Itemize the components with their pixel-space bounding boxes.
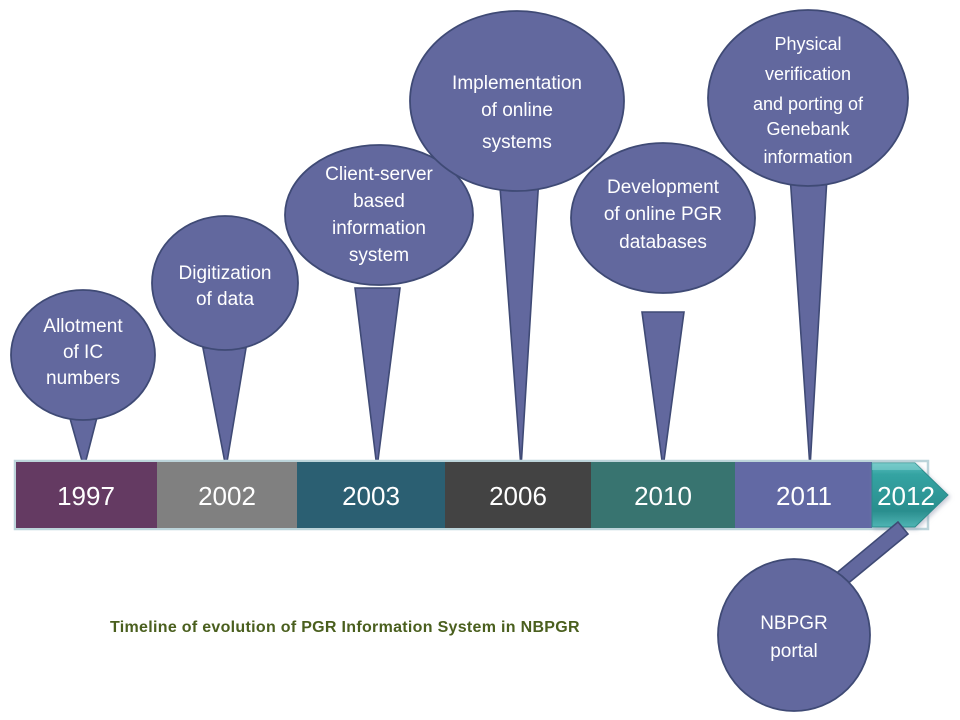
callout-2011-line-2: verification [765,64,851,84]
callout-1997[interactable]: Allotment of IC numbers [11,290,155,420]
callout-2011-line-3: and porting of [753,94,864,114]
callout-1997-line-1: Allotment [43,316,123,337]
year-label-2011: 2011 [776,481,832,511]
year-label-2010: 2010 [634,481,692,511]
tail-2006 [498,160,540,468]
tail-2010 [642,312,684,468]
year-label-2006: 2006 [489,481,547,511]
tail-2011 [789,160,828,468]
callout-2002-line-2: of data [196,289,255,310]
year-label-1997: 1997 [57,481,115,511]
callout-2006-line-3: systems [482,132,552,153]
callout-2006-line-1: Implementation [452,73,582,94]
callout-2011-line-5: information [763,147,852,167]
callout-2012-bubble [718,559,870,711]
callout-2006[interactable]: Implementation of online systems [410,11,624,191]
callout-1997-line-3: numbers [46,368,120,389]
callout-2003-line-2: based [353,191,405,212]
timeline-bar: 1997 2002 2003 2006 2010 2011 2012 [15,461,948,529]
timeline-figure: 1997 2002 2003 2006 2010 2011 2012 Allot… [0,0,960,720]
callout-2003-line-3: information [332,218,426,239]
callout-2006-line-2: of online [481,100,553,121]
callout-2012-line-1: NBPGR [760,613,828,634]
timeline-canvas: 1997 2002 2003 2006 2010 2011 2012 Allot… [0,0,960,720]
year-label-2002: 2002 [198,481,256,511]
year-label-2003: 2003 [342,481,400,511]
callout-2003-line-1: Client-server [325,164,433,185]
callout-2002-line-1: Digitization [179,263,272,284]
callout-2010[interactable]: Development of online PGR databases [571,143,755,293]
callout-2012[interactable]: NBPGR portal [718,559,870,711]
callout-2010-line-3: databases [619,232,707,253]
callout-2010-line-2: of online PGR [604,204,722,225]
tail-2002 [203,348,246,468]
callout-2011-line-4: Genebank [766,119,850,139]
year-label-2012: 2012 [877,481,935,511]
callout-2011-line-1: Physical [774,34,841,54]
callout-1997-line-2: of IC [63,342,103,363]
callout-2002[interactable]: Digitization of data [152,216,298,350]
callout-2012-line-2: portal [770,641,818,662]
callout-2003-line-4: system [349,245,409,266]
figure-caption: Timeline of evolution of PGR Information… [110,619,580,636]
callout-2010-line-1: Development [607,177,720,198]
tail-2003 [355,288,400,468]
callout-2011[interactable]: Physical verification and porting of Gen… [708,10,908,186]
